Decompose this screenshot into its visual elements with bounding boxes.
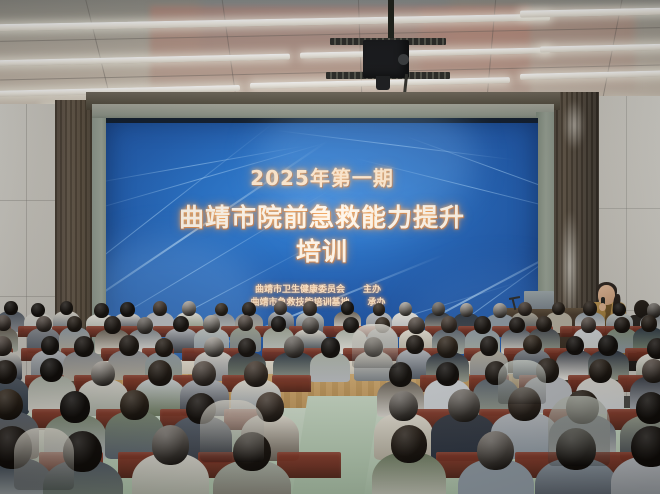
- audience-member-torso: [548, 396, 610, 466]
- audience-member: [611, 426, 660, 494]
- audience-member-head: [74, 336, 94, 357]
- audience-member-head: [284, 336, 304, 357]
- audience-member-head: [238, 338, 256, 357]
- audience-member-head: [598, 335, 618, 356]
- audience-member-head: [614, 317, 630, 333]
- audience-member-head: [91, 361, 115, 386]
- audience-member: [310, 337, 350, 387]
- audience-member-head: [399, 302, 413, 316]
- projector-lens-icon: [398, 54, 409, 65]
- audience-member-head: [523, 335, 541, 354]
- audience-member-head: [448, 389, 480, 422]
- audience-member-head: [182, 301, 196, 315]
- audience-member-head: [238, 315, 253, 331]
- audience-member-head: [341, 301, 354, 315]
- audience-member-head: [406, 335, 424, 354]
- audience-member-head: [244, 361, 268, 387]
- audience-member-head: [509, 317, 525, 333]
- audience-member-head: [0, 360, 17, 384]
- audience-member-head: [518, 302, 532, 316]
- audience-member-head: [641, 315, 657, 332]
- audience-member-head: [480, 336, 499, 356]
- audience-member-torso: [200, 400, 264, 462]
- audience-member-head: [613, 303, 626, 316]
- audience-member-head: [432, 302, 445, 316]
- audience-member-torso: [352, 324, 398, 368]
- audience-member-head: [40, 358, 63, 382]
- audience-member: [372, 425, 446, 494]
- audience-member-head: [474, 316, 491, 334]
- audience-member-head: [41, 336, 60, 355]
- audience-member-head: [120, 302, 134, 317]
- audience-member-head: [583, 301, 597, 316]
- audience-member-head: [321, 337, 341, 357]
- audience-member-head: [120, 390, 149, 420]
- slide-year-line: 2025年第一期: [106, 162, 538, 191]
- audience-member-head: [642, 359, 660, 383]
- audience-member-head: [303, 301, 317, 316]
- audience-member-head: [636, 392, 660, 424]
- audience-member-head: [67, 316, 82, 332]
- audience-member-head: [647, 338, 660, 359]
- audience-member-head: [104, 316, 121, 334]
- column-light-glare: [563, 100, 585, 150]
- audience-member-head: [4, 301, 18, 315]
- audience-member-torso: [14, 428, 74, 490]
- audience-member-head: [60, 301, 73, 315]
- audience-member-head: [302, 317, 319, 335]
- audience-member-head: [408, 317, 425, 334]
- audience-member-head: [153, 301, 167, 316]
- audience-member-head: [204, 337, 223, 357]
- audience-member-torso: [498, 360, 546, 404]
- slide-title-line-1: 曲靖市院前急救能力提升: [106, 198, 538, 234]
- organizer-row: 曲靖市卫生健康委员会 主办: [106, 284, 538, 297]
- audience-member-head: [566, 336, 585, 356]
- audience-member-head: [391, 425, 427, 463]
- audience-member-head: [203, 315, 220, 333]
- audience-member: [132, 425, 209, 494]
- projector-foot: [376, 76, 390, 90]
- audience-member-head: [119, 335, 139, 356]
- audience-member-head: [0, 315, 11, 331]
- organizer-role: 主办: [363, 284, 389, 297]
- photograph-conference-training-session: 2025年第一期 曲靖市院前急救能力提升 培训 曲靖市卫生健康委员会 主办 曲靖…: [0, 0, 660, 494]
- audience-member-head: [192, 361, 216, 386]
- audience-member-head: [373, 303, 386, 316]
- audience-member-head: [631, 426, 660, 467]
- projector-mount-pole: [388, 0, 394, 42]
- audience-member-head: [274, 301, 287, 315]
- ceiling-light-strip: [520, 7, 660, 17]
- audience-member-head: [589, 359, 613, 384]
- audience-member-head: [155, 338, 173, 357]
- audience-member-head: [536, 316, 552, 333]
- audience-member-head: [437, 336, 458, 358]
- audience-member-head: [36, 316, 52, 333]
- audience-member-head: [477, 431, 514, 470]
- slide-title-line-2: 培训: [106, 232, 538, 268]
- audience-member: [458, 431, 534, 494]
- audience-member-head: [581, 317, 596, 333]
- audience-member-head: [148, 360, 173, 386]
- audience: [0, 300, 660, 494]
- organizer-name: 曲靖市卫生健康委员会: [255, 284, 345, 297]
- audience-member-head: [389, 391, 418, 421]
- audience-member-head: [152, 425, 190, 465]
- audience-member-head: [137, 317, 153, 334]
- audience-member-head: [441, 316, 457, 333]
- audience-member-head: [460, 303, 473, 317]
- audience-member-head: [60, 391, 90, 423]
- audience-member-head: [436, 362, 459, 386]
- audience-member-head: [271, 316, 286, 332]
